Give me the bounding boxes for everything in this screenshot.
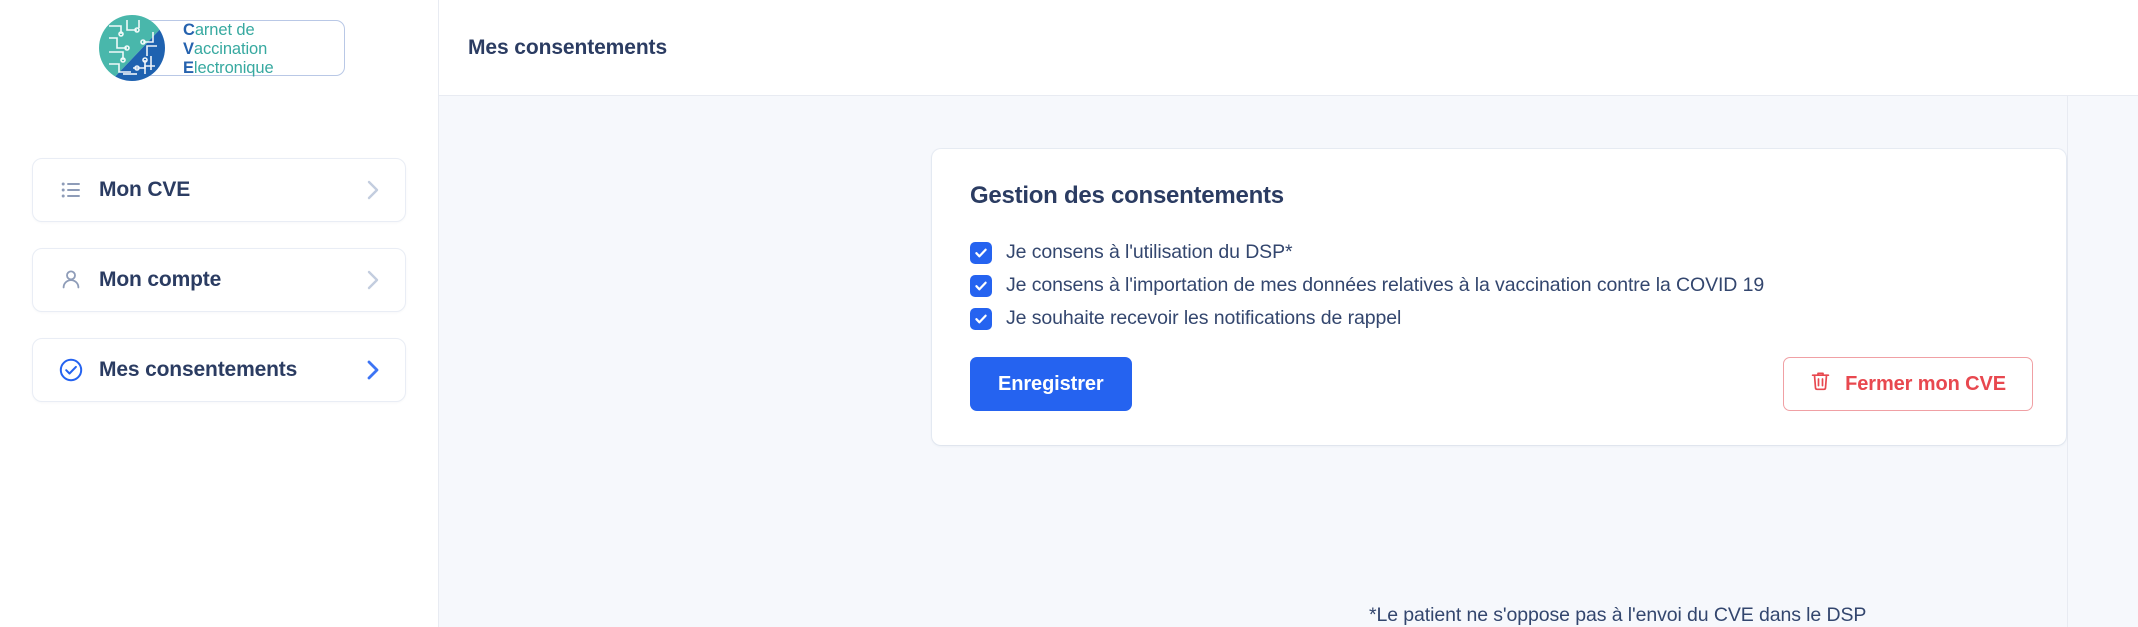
sidebar-item-label: Mes consentements (99, 358, 363, 382)
consent-checkbox-dsp[interactable] (970, 242, 992, 264)
consent-row[interactable]: Je consens à l'utilisation du DSP* (970, 241, 2033, 264)
save-button[interactable]: Enregistrer (970, 357, 1132, 411)
content-area: Gestion des consentements Je consens à l… (439, 96, 2138, 627)
app-logo[interactable]: Carnet de Vaccination Electronique (93, 12, 345, 84)
footnote-text: *Le patient ne s'oppose pas à l'envoi du… (1369, 604, 1866, 627)
chevron-right-icon (363, 359, 383, 381)
check-circle-icon (57, 356, 85, 384)
sidebar-item-mes-consentements[interactable]: Mes consentements (32, 338, 406, 402)
logo-line-2: Vaccination (183, 40, 274, 59)
sidebar-nav: Mon CVE Mon compte (0, 158, 438, 402)
consent-list: Je consens à l'utilisation du DSP* Je co… (970, 241, 2033, 330)
consent-checkbox-reminders[interactable] (970, 308, 992, 330)
chevron-right-icon (363, 179, 383, 201)
consent-row[interactable]: Je consens à l'importation de mes donnée… (970, 274, 2033, 297)
logo-line-3: Electronique (183, 59, 274, 78)
consent-label: Je consens à l'importation de mes donnée… (1006, 274, 1764, 297)
card-title: Gestion des consentements (970, 182, 2033, 210)
page-header: Mes consentements (439, 0, 2138, 96)
sidebar: Carnet de Vaccination Electronique Mon C… (0, 0, 439, 627)
sidebar-item-mon-cve[interactable]: Mon CVE (32, 158, 406, 222)
app-root: Carnet de Vaccination Electronique Mon C… (0, 0, 2138, 627)
logo-line-1: Carnet de (183, 21, 274, 40)
sidebar-item-label: Mon compte (99, 268, 363, 292)
logo-wrapper: Carnet de Vaccination Electronique (0, 0, 438, 84)
consent-management-card: Gestion des consentements Je consens à l… (932, 149, 2066, 445)
page-title: Mes consentements (468, 36, 667, 60)
main-region: Mes consentements Gestion des consenteme… (439, 0, 2138, 627)
scrollbar-track[interactable] (2067, 96, 2068, 627)
close-cve-label: Fermer mon CVE (1845, 373, 2006, 396)
cve-circular-circuit-logo-icon (93, 12, 171, 84)
trash-icon (1810, 370, 1831, 398)
close-cve-button[interactable]: Fermer mon CVE (1783, 357, 2033, 411)
sidebar-item-mon-compte[interactable]: Mon compte (32, 248, 406, 312)
consent-label: Je souhaite recevoir les notifications d… (1006, 307, 1401, 330)
logo-wordmark: Carnet de Vaccination Electronique (183, 21, 274, 78)
consent-row[interactable]: Je souhaite recevoir les notifications d… (970, 307, 2033, 330)
sidebar-item-label: Mon CVE (99, 178, 363, 202)
user-icon (57, 266, 85, 294)
card-actions: Enregistrer Fermer mon CVE (970, 357, 2033, 411)
consent-checkbox-covid-import[interactable] (970, 275, 992, 297)
consent-label: Je consens à l'utilisation du DSP* (1006, 241, 1292, 264)
list-icon (57, 176, 85, 204)
chevron-right-icon (363, 269, 383, 291)
